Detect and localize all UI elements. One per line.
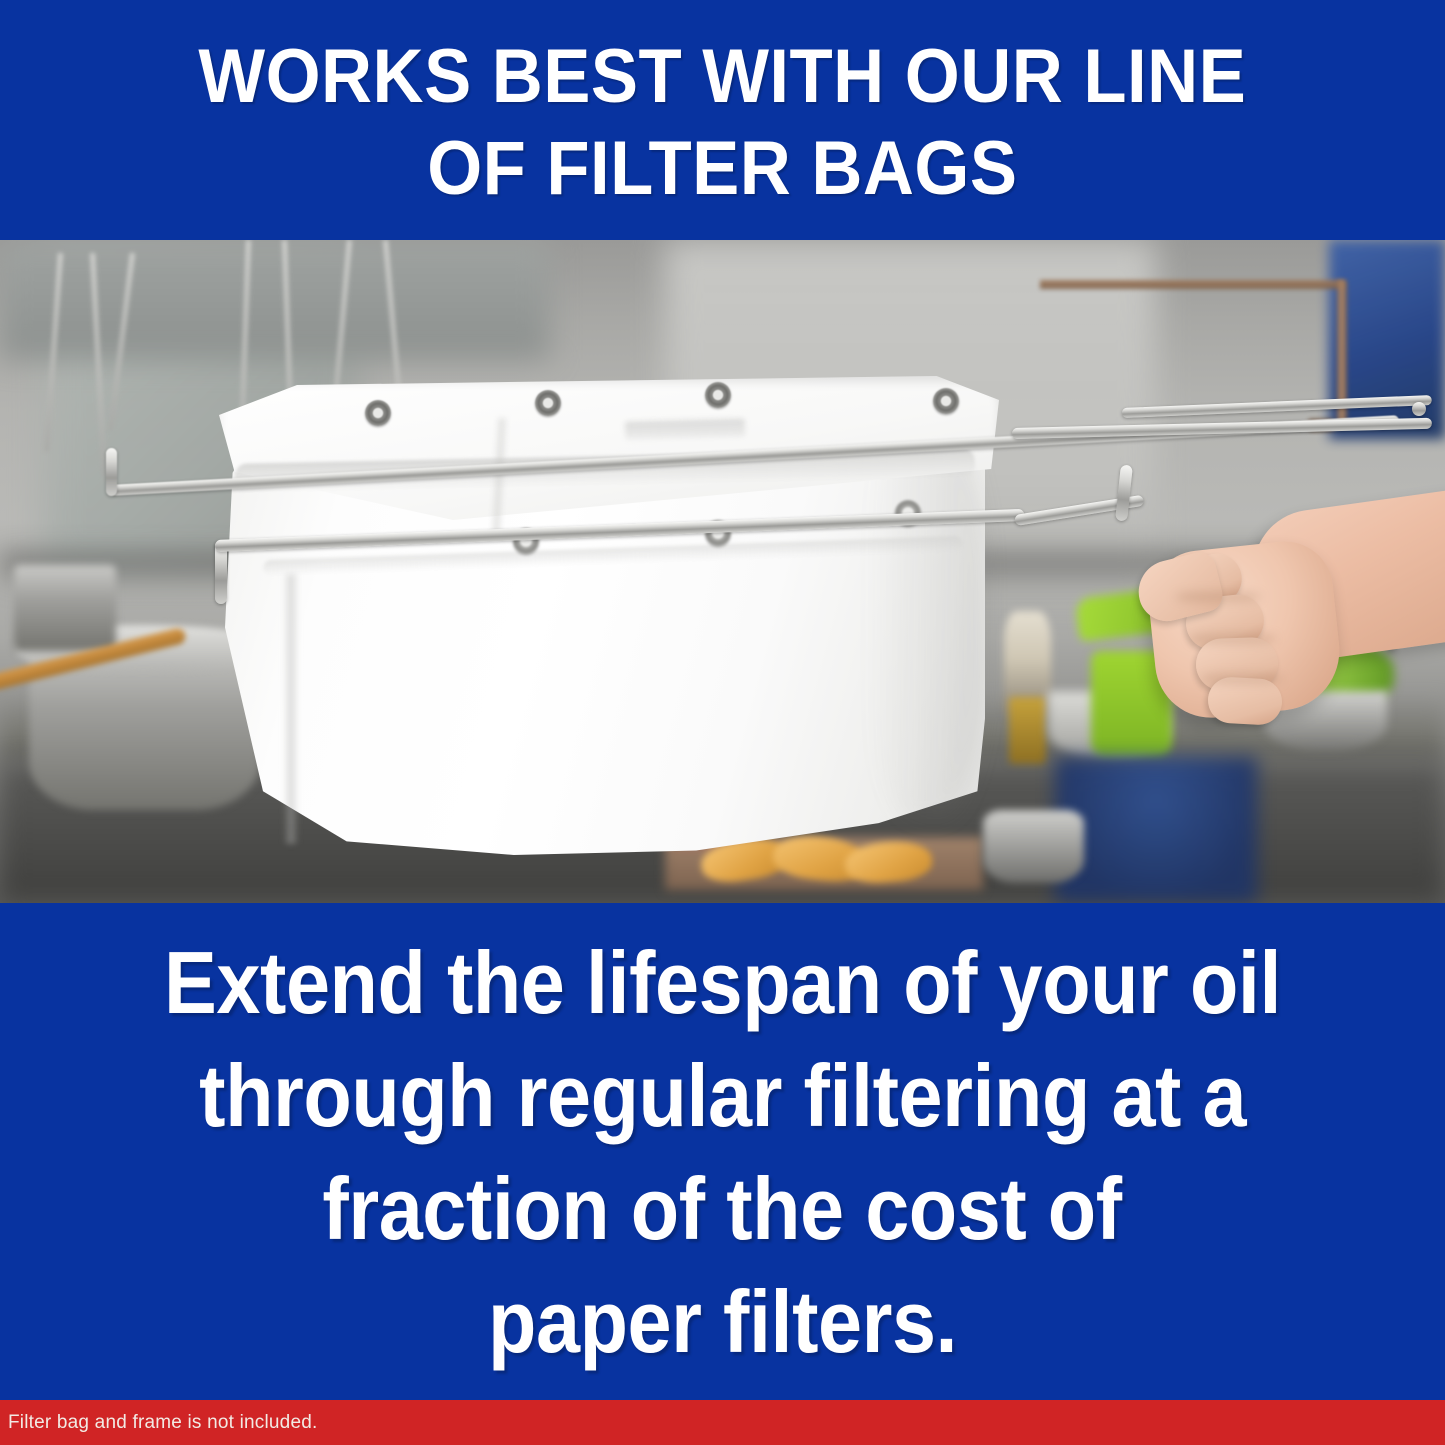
background-poster bbox=[1329, 240, 1445, 439]
finger-shadow bbox=[1202, 674, 1282, 684]
grommet-icon bbox=[365, 400, 391, 426]
tagline-line-2: through regular filtering at a bbox=[199, 1039, 1246, 1152]
header-banner: WORKS BEST WITH OUR LINE OF FILTER BAGS bbox=[0, 0, 1445, 240]
oil-bottle bbox=[1009, 697, 1047, 763]
tagline-line-4: paper filters. bbox=[488, 1265, 957, 1378]
background-blue-uniform bbox=[1055, 757, 1257, 903]
wire-frame-handle-tip bbox=[1412, 402, 1426, 416]
finger-shadow bbox=[1176, 592, 1260, 602]
grommet-icon bbox=[535, 390, 561, 416]
finger-shadow bbox=[1190, 634, 1276, 644]
filter-bag-printed-label bbox=[625, 418, 745, 439]
stainless-pot bbox=[14, 565, 115, 651]
wire-frame-rear-left-hook bbox=[106, 448, 117, 496]
grommet-icon bbox=[705, 382, 731, 408]
tagline-panel: Extend the lifespan of your oil through … bbox=[0, 903, 1445, 1400]
product-banner: WORKS BEST WITH OUR LINE OF FILTER BAGS bbox=[0, 0, 1445, 1445]
tagline-line-3: fraction of the cost of bbox=[323, 1152, 1122, 1265]
disclaimer-text: Filter bag and frame is not included. bbox=[0, 1412, 317, 1434]
product-photo bbox=[0, 240, 1445, 903]
header-line-2: OF FILTER BAGS bbox=[427, 123, 1017, 215]
filter-bag bbox=[205, 360, 1005, 890]
copper-pipe-horizontal bbox=[1040, 280, 1343, 289]
filter-bag-fold bbox=[283, 574, 299, 844]
grommet-icon bbox=[933, 388, 959, 414]
tagline-line-1: Extend the lifespan of your oil bbox=[164, 926, 1281, 1039]
background-extraction-hood bbox=[0, 240, 549, 359]
disclaimer-bar: Filter bag and frame is not included. bbox=[0, 1400, 1445, 1445]
header-line-1: WORKS BEST WITH OUR LINE bbox=[199, 31, 1247, 123]
